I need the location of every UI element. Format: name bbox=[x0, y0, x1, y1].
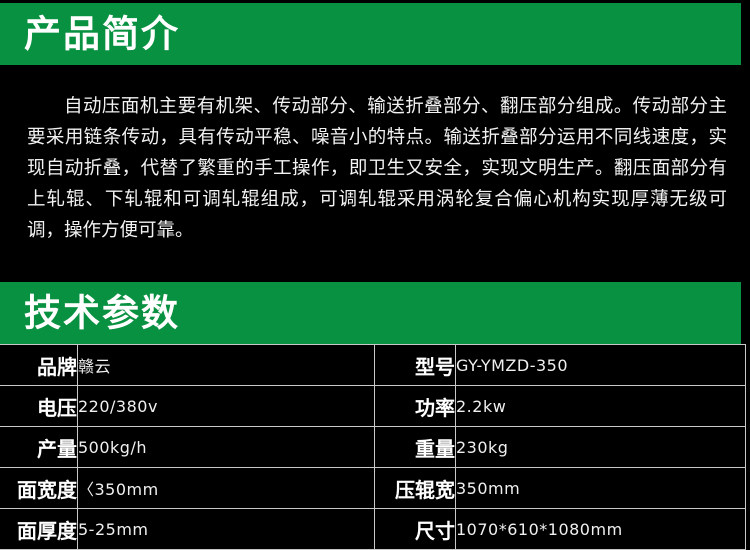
spec-value-dough-width: 〈350mm bbox=[78, 468, 375, 509]
spec-value-dimensions: 1070*610*1080mm bbox=[456, 509, 746, 550]
spec-value-model: GY-YMZD-350 bbox=[456, 345, 746, 386]
spec-label-dimensions: 尺寸 bbox=[375, 509, 456, 550]
product-detail-page: 产品简介 自动压面机主要有机架、传动部分、输送折叠部分、翻压部分组成。传动部分主… bbox=[0, 0, 750, 548]
section-title-tech-params: 技术参数 bbox=[24, 295, 180, 332]
spec-value-roller-width: 350mm bbox=[456, 468, 746, 509]
spec-label-brand: 品牌 bbox=[1, 345, 78, 386]
spec-label-power: 功率 bbox=[375, 386, 456, 427]
spec-table: 品牌 赣云 型号 GY-YMZD-350 电压 220/380v 功率 2.2k… bbox=[0, 344, 746, 550]
spec-label-roller-width: 压辊宽 bbox=[375, 468, 456, 509]
table-row: 电压 220/380v 功率 2.2kw bbox=[1, 386, 746, 427]
spec-label-voltage: 电压 bbox=[1, 386, 78, 427]
spec-value-dough-thickness: 5-25mm bbox=[78, 509, 375, 550]
section-banner-product-intro: 产品简介 bbox=[0, 3, 741, 65]
spec-label-dough-width: 面宽度 bbox=[1, 468, 78, 509]
spec-value-capacity: 500kg/h bbox=[78, 427, 375, 468]
spec-label-capacity: 产量 bbox=[1, 427, 78, 468]
product-intro-body: 自动压面机主要有机架、传动部分、输送折叠部分、翻压部分组成。传动部分主要采用链条… bbox=[0, 65, 750, 282]
table-row: 品牌 赣云 型号 GY-YMZD-350 bbox=[1, 345, 746, 386]
table-row: 面宽度 〈350mm 压辊宽 350mm bbox=[1, 468, 746, 509]
spec-label-dough-thickness: 面厚度 bbox=[1, 509, 78, 550]
table-row: 产量 500kg/h 重量 230kg bbox=[1, 427, 746, 468]
table-row: 面厚度 5-25mm 尺寸 1070*610*1080mm bbox=[1, 509, 746, 550]
spec-table-body: 品牌 赣云 型号 GY-YMZD-350 电压 220/380v 功率 2.2k… bbox=[1, 345, 746, 550]
spec-value-brand: 赣云 bbox=[78, 345, 375, 386]
spec-label-weight: 重量 bbox=[375, 427, 456, 468]
section-banner-tech-params: 技术参数 bbox=[0, 282, 741, 344]
product-intro-paragraph: 自动压面机主要有机架、传动部分、输送折叠部分、翻压部分组成。传动部分主要采用链条… bbox=[27, 91, 727, 246]
spec-value-power: 2.2kw bbox=[456, 386, 746, 427]
spec-value-voltage: 220/380v bbox=[78, 386, 375, 427]
section-title-product-intro: 产品简介 bbox=[24, 16, 180, 53]
spec-value-weight: 230kg bbox=[456, 427, 746, 468]
spec-label-model: 型号 bbox=[375, 345, 456, 386]
